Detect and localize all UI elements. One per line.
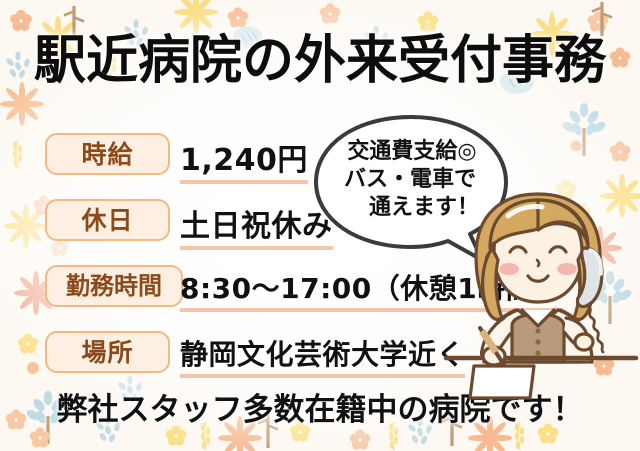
notepad: [470, 366, 534, 398]
hair-side-left: [483, 248, 502, 320]
page-title: 駅近病院の外来受付事務: [0, 18, 640, 93]
label-holiday: 休日: [45, 199, 170, 241]
label-work-hours: 勤務時間: [45, 265, 183, 307]
label-wage: 時給: [45, 133, 170, 175]
job-ad-poster: 駅近病院の外来受付事務 時給 1,240円 休日 土日祝休み 勤務時間 8:30…: [0, 0, 640, 451]
receptionist-illustration: [438, 186, 640, 401]
label-location: 場所: [45, 331, 170, 373]
value-location: 静岡文化芸術大学近く: [180, 333, 465, 379]
value-wage: 1,240円: [180, 135, 308, 185]
hand-right: [575, 334, 593, 350]
